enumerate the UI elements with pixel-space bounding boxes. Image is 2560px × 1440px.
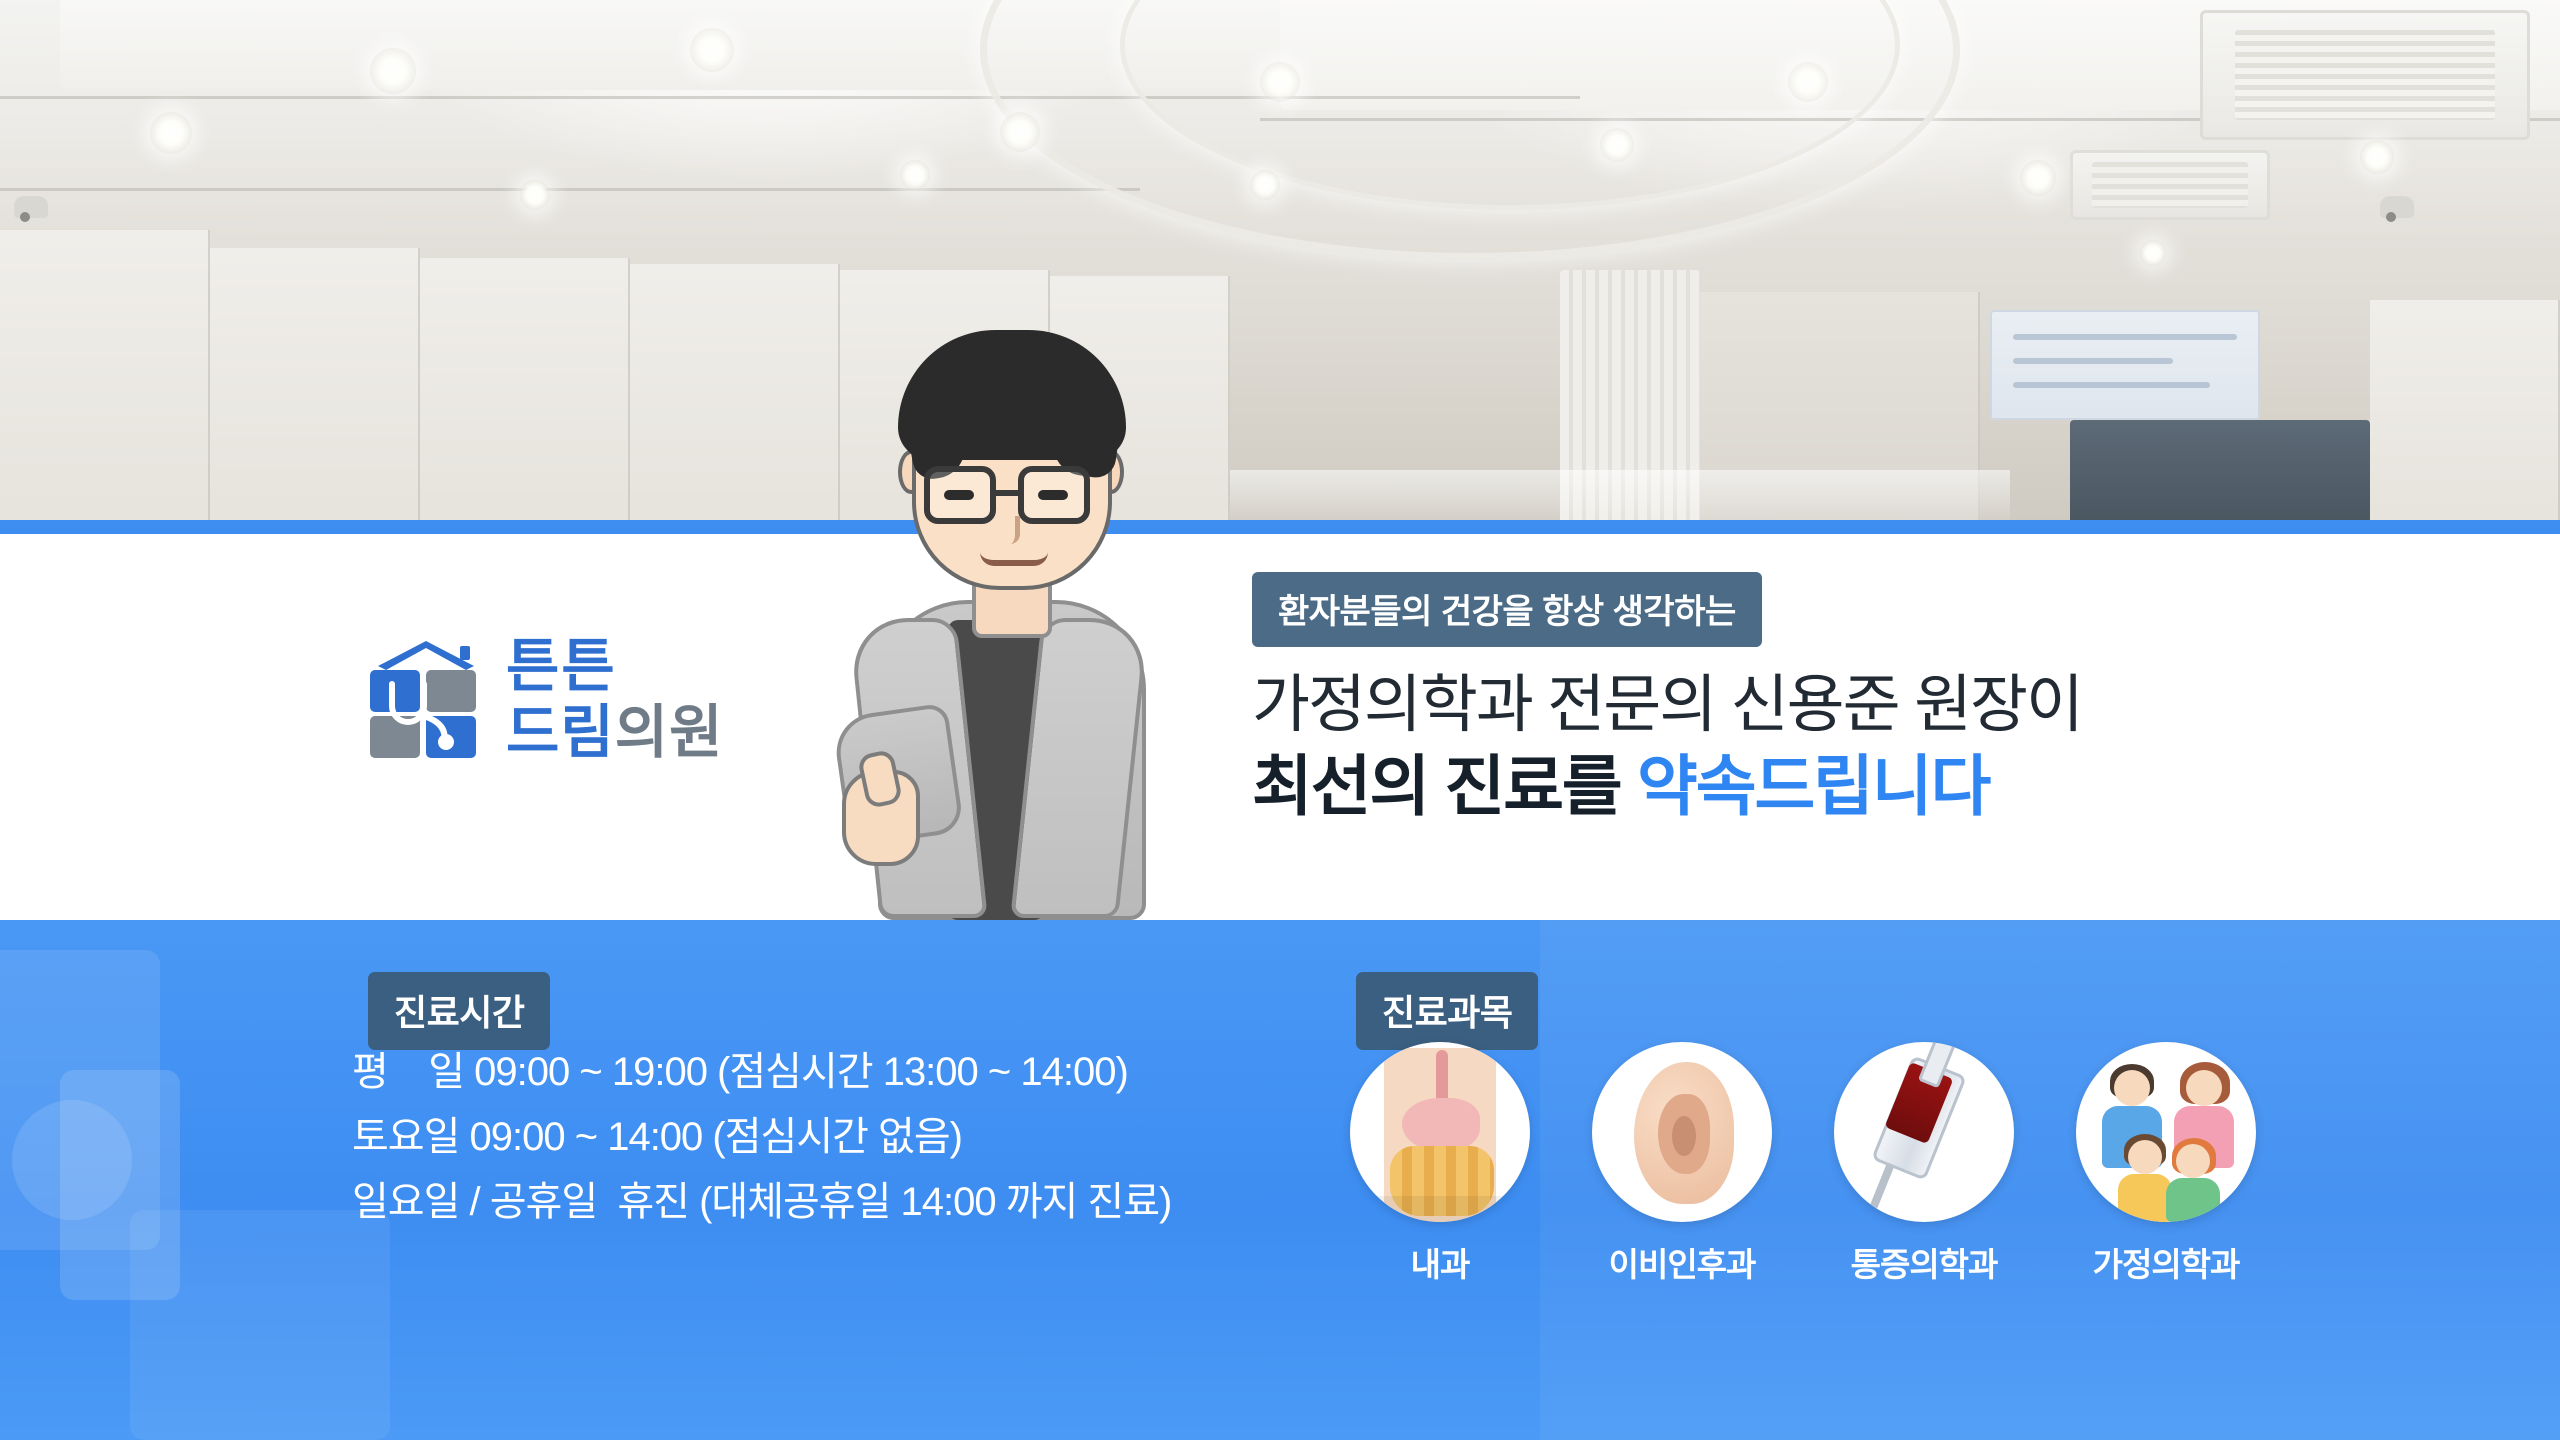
department-label: 내과 bbox=[1411, 1238, 1470, 1286]
brand-divider bbox=[0, 520, 2560, 534]
logo-line1: 튼튼 bbox=[506, 638, 723, 696]
ceiling-light bbox=[150, 112, 192, 154]
tagline-pill: 환자분들의 건강을 항상 생각하는 bbox=[1252, 572, 1762, 647]
ceiling-light bbox=[1000, 112, 1040, 152]
wall-panel bbox=[420, 258, 630, 520]
headline-line-2-accent: 약속드립니다 bbox=[1637, 749, 1989, 823]
family-icon bbox=[2076, 1042, 2256, 1222]
stomach-intestine-icon bbox=[1350, 1042, 1530, 1222]
background-shape bbox=[12, 1100, 132, 1220]
department-family-medicine[interactable]: 가정의학과 bbox=[2076, 1042, 2256, 1286]
wall-panel bbox=[630, 264, 840, 520]
ceiling-light bbox=[370, 48, 416, 94]
ceiling-light bbox=[1250, 170, 1280, 200]
stethoscope-icon bbox=[376, 676, 468, 752]
headline-line-2-dark: 최선의 진료를 bbox=[1252, 749, 1637, 823]
security-camera-icon bbox=[14, 196, 48, 218]
ceiling-light bbox=[1788, 62, 1828, 102]
doctor-nose bbox=[1004, 516, 1020, 544]
thumbs-up-hand-icon bbox=[842, 770, 920, 866]
doctor-hair bbox=[898, 330, 1126, 460]
ceiling-light bbox=[1600, 128, 1634, 162]
clinic-interior-photo bbox=[0, 0, 2560, 520]
logo-line2-gray: 의원 bbox=[615, 700, 724, 765]
doctor-eye-right bbox=[1038, 490, 1068, 500]
background-shape bbox=[130, 1210, 390, 1440]
banner-root: 튼튼 드림의원 환자분들의 건강을 항상 생각하는 가정의학과 전문의 신용준 … bbox=[0, 0, 2560, 1440]
departments-list: 내과 이비인후과 통증의학과 bbox=[1350, 1042, 2256, 1286]
wall-panel bbox=[210, 248, 420, 520]
wall-panel bbox=[2370, 300, 2560, 520]
ceiling-light bbox=[520, 180, 550, 210]
logo-line2-blue: 드림 bbox=[506, 700, 615, 765]
ceiling-light bbox=[2140, 240, 2166, 266]
air-conditioner-vent bbox=[2200, 10, 2530, 140]
department-pain-medicine[interactable]: 통증의학과 bbox=[1834, 1042, 2014, 1286]
ceiling-light bbox=[1260, 62, 1300, 102]
logo-line2: 드림의원 bbox=[506, 704, 723, 762]
ceiling-light bbox=[690, 28, 734, 72]
hero-headline-block: 환자분들의 건강을 항상 생각하는 가정의학과 전문의 신용준 원장이 최선의 … bbox=[1252, 572, 2512, 825]
glasses-bridge bbox=[996, 490, 1018, 496]
doctor-mouth bbox=[980, 552, 1048, 566]
logo-blocks-icon bbox=[368, 666, 484, 760]
ceiling-light bbox=[900, 160, 930, 190]
ceiling-light bbox=[2020, 160, 2056, 196]
department-internal-medicine[interactable]: 내과 bbox=[1350, 1042, 1530, 1286]
doctor-character-illustration bbox=[840, 300, 1180, 920]
wall-sign bbox=[1990, 310, 2260, 420]
logo-wordmark: 튼튼 드림의원 bbox=[506, 638, 723, 762]
clinic-logo[interactable]: 튼튼 드림의원 bbox=[368, 630, 788, 770]
ceiling-light bbox=[2360, 140, 2394, 174]
wall-panel bbox=[0, 230, 210, 520]
doctor-eye-left bbox=[944, 490, 974, 500]
logo-mark-icon bbox=[368, 640, 484, 760]
headline-line-1: 가정의학과 전문의 신용준 원장이 bbox=[1252, 669, 2512, 741]
air-conditioner-vent bbox=[2070, 150, 2270, 220]
reception-counter bbox=[2070, 420, 2370, 520]
department-label: 이비인후과 bbox=[1609, 1238, 1756, 1286]
department-label: 가정의학과 bbox=[2093, 1238, 2240, 1286]
section-label-departments: 진료과목 bbox=[1356, 972, 1538, 1050]
ear-icon bbox=[1592, 1042, 1772, 1222]
security-camera-icon bbox=[2380, 196, 2414, 218]
headline-line-2: 최선의 진료를 약속드립니다 bbox=[1252, 749, 2512, 825]
ceiling-seam bbox=[0, 188, 1140, 191]
syringe-icon bbox=[1834, 1042, 2014, 1222]
department-label: 통증의학과 bbox=[1851, 1238, 1998, 1286]
floor-reflection bbox=[1230, 470, 2010, 520]
section-label-hours: 진료시간 bbox=[368, 972, 550, 1050]
hours-row-weekday: 평 일 09:00 ~ 19:00 (점심시간 13:00 ~ 14:00) bbox=[352, 1040, 1171, 1105]
hours-row-sunday-holiday: 일요일 / 공휴일 휴진 (대체공휴일 14:00 까지 진료) bbox=[352, 1170, 1171, 1235]
department-ent[interactable]: 이비인후과 bbox=[1592, 1042, 1772, 1286]
hours-list: 평 일 09:00 ~ 19:00 (점심시간 13:00 ~ 14:00) 토… bbox=[352, 1040, 1171, 1234]
hours-row-saturday: 토요일 09:00 ~ 14:00 (점심시간 없음) bbox=[352, 1105, 1171, 1170]
